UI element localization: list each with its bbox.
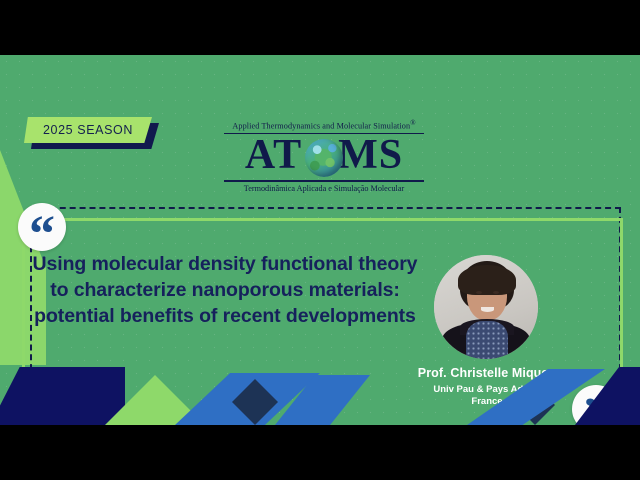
atoms-logo: Applied Thermodynamics and Molecular Sim… — [218, 118, 430, 194]
decor-triangle-navy-left — [0, 367, 125, 425]
portrait-eye-left — [476, 291, 482, 294]
season-badge-face: 2025 SEASON — [24, 117, 152, 143]
letterbox-top — [0, 0, 640, 55]
logo-tagline-top: Applied Thermodynamics and Molecular Sim… — [218, 118, 430, 132]
logo-tagline-top-text: Applied Thermodynamics and Molecular Sim… — [232, 122, 410, 131]
slide-title: Using molecular density functional theor… — [30, 251, 420, 329]
portrait-scarf — [466, 321, 508, 359]
globe-icon — [305, 139, 343, 177]
registered-mark-icon: ® — [410, 119, 415, 127]
season-badge-label: 2025 SEASON — [43, 123, 133, 137]
speaker-portrait — [434, 255, 538, 359]
season-badge: 2025 SEASON — [24, 117, 152, 143]
logo-wordmark: ATMS — [218, 135, 430, 179]
video-frame: 2025 SEASON Applied Thermodynamics and M… — [0, 55, 640, 425]
portrait-mouth — [481, 307, 494, 312]
quote-open-icon: “ — [18, 203, 66, 251]
logo-tagline-bottom: Termodinâmica Aplicada e Simulação Molec… — [218, 183, 430, 194]
logo-letters-right: MS — [338, 132, 403, 178]
logo-rule-bottom — [224, 180, 424, 182]
letterbox-bottom — [0, 425, 640, 480]
slide-stage: 2025 SEASON Applied Thermodynamics and M… — [0, 0, 640, 480]
decor-geometric-band — [0, 367, 640, 425]
portrait-hair-front — [458, 265, 516, 295]
portrait-eye-right — [493, 291, 499, 294]
logo-letters-left: AT — [245, 132, 302, 178]
